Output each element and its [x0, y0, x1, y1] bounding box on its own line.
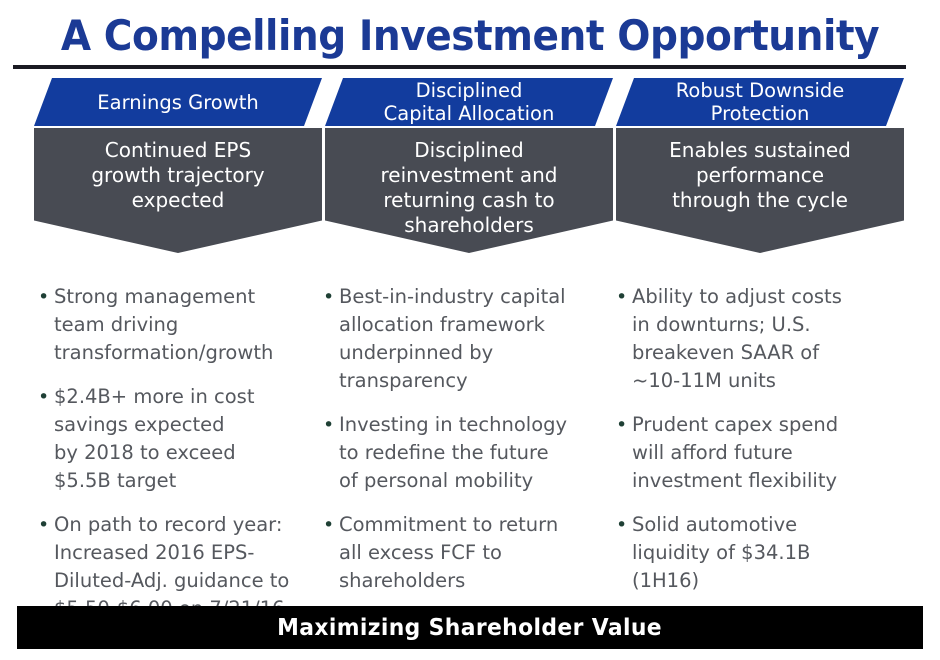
bullet-dot-icon: •: [616, 511, 632, 539]
footer-banner: Maximizing Shareholder Value: [17, 606, 923, 649]
pillar-summary-earnings-growth: Continued EPS growth trajectory expected: [34, 128, 322, 253]
list-item-text: Best-in-industry capital allocation fram…: [339, 283, 619, 395]
bullet-dot-icon: •: [323, 511, 339, 539]
pillar-banner-label: Disciplined Capital Allocation: [384, 79, 555, 125]
page-title: A Compelling Investment Opportunity: [33, 12, 907, 60]
pillars-container: Earnings Growth Continued EPS growth tra…: [0, 78, 940, 578]
list-item-text: $2.4B+ more in cost savings expected by …: [54, 383, 338, 495]
list-item: • Ability to adjust costs in downturns; …: [616, 283, 916, 395]
pillar-summary-robust-downside-protection: Enables sustained performance through th…: [616, 128, 904, 253]
list-item-text: Ability to adjust costs in downturns; U.…: [632, 283, 916, 395]
list-item: • Solid automotive liquidity of $34.1B (…: [616, 511, 916, 595]
list-item-text: Strong management team driving transform…: [54, 283, 338, 367]
pillar-bullet-list-robust-downside-protection: • Ability to adjust costs in downturns; …: [616, 283, 916, 611]
bullet-dot-icon: •: [616, 411, 632, 439]
list-item: • Strong management team driving transfo…: [38, 283, 338, 367]
list-item-text: Investing in technology to redefine the …: [339, 411, 619, 495]
list-item: • Investing in technology to redefine th…: [323, 411, 619, 495]
pillar-summary-label: Enables sustained performance through th…: [632, 138, 888, 213]
pillar-column-earnings-growth: Earnings Growth Continued EPS growth tra…: [34, 78, 322, 253]
pillar-column-disciplined-capital-allocation: Disciplined Capital Allocation Disciplin…: [325, 78, 613, 253]
pillar-banner-robust-downside-protection: Robust Downside Protection: [616, 78, 904, 126]
pillar-column-robust-downside-protection: Robust Downside Protection Enables susta…: [616, 78, 904, 253]
pillar-banner-disciplined-capital-allocation: Disciplined Capital Allocation: [325, 78, 613, 126]
pillar-bullet-list-earnings-growth: • Strong management team driving transfo…: [38, 283, 338, 639]
list-item-text: Commitment to return all excess FCF to s…: [339, 511, 619, 595]
list-item: • Commitment to return all excess FCF to…: [323, 511, 619, 595]
bullet-dot-icon: •: [38, 283, 54, 311]
bullet-dot-icon: •: [38, 383, 54, 411]
pillar-banner-earnings-growth: Earnings Growth: [34, 78, 322, 126]
list-item: • $2.4B+ more in cost savings expected b…: [38, 383, 338, 495]
pillar-summary-label: Continued EPS growth trajectory expected: [50, 138, 306, 213]
list-item-text: Solid automotive liquidity of $34.1B (1H…: [632, 511, 916, 595]
pillar-bullet-list-disciplined-capital-allocation: • Best-in-industry capital allocation fr…: [323, 283, 619, 611]
bullet-dot-icon: •: [323, 411, 339, 439]
pillar-banner-label: Earnings Growth: [97, 91, 258, 114]
title-divider-rule: [13, 65, 906, 69]
list-item: • Best-in-industry capital allocation fr…: [323, 283, 619, 395]
pillar-banner-label: Robust Downside Protection: [676, 79, 845, 125]
bullet-dot-icon: •: [323, 283, 339, 311]
bullet-dot-icon: •: [616, 283, 632, 311]
footer-label: Maximizing Shareholder Value: [278, 615, 663, 641]
pillar-summary-disciplined-capital-allocation: Disciplined reinvestment and returning c…: [325, 128, 613, 253]
list-item: • Prudent capex spend will afford future…: [616, 411, 916, 495]
bullet-dot-icon: •: [38, 511, 54, 539]
pillar-summary-label: Disciplined reinvestment and returning c…: [341, 138, 597, 238]
list-item-text: Prudent capex spend will afford future i…: [632, 411, 916, 495]
